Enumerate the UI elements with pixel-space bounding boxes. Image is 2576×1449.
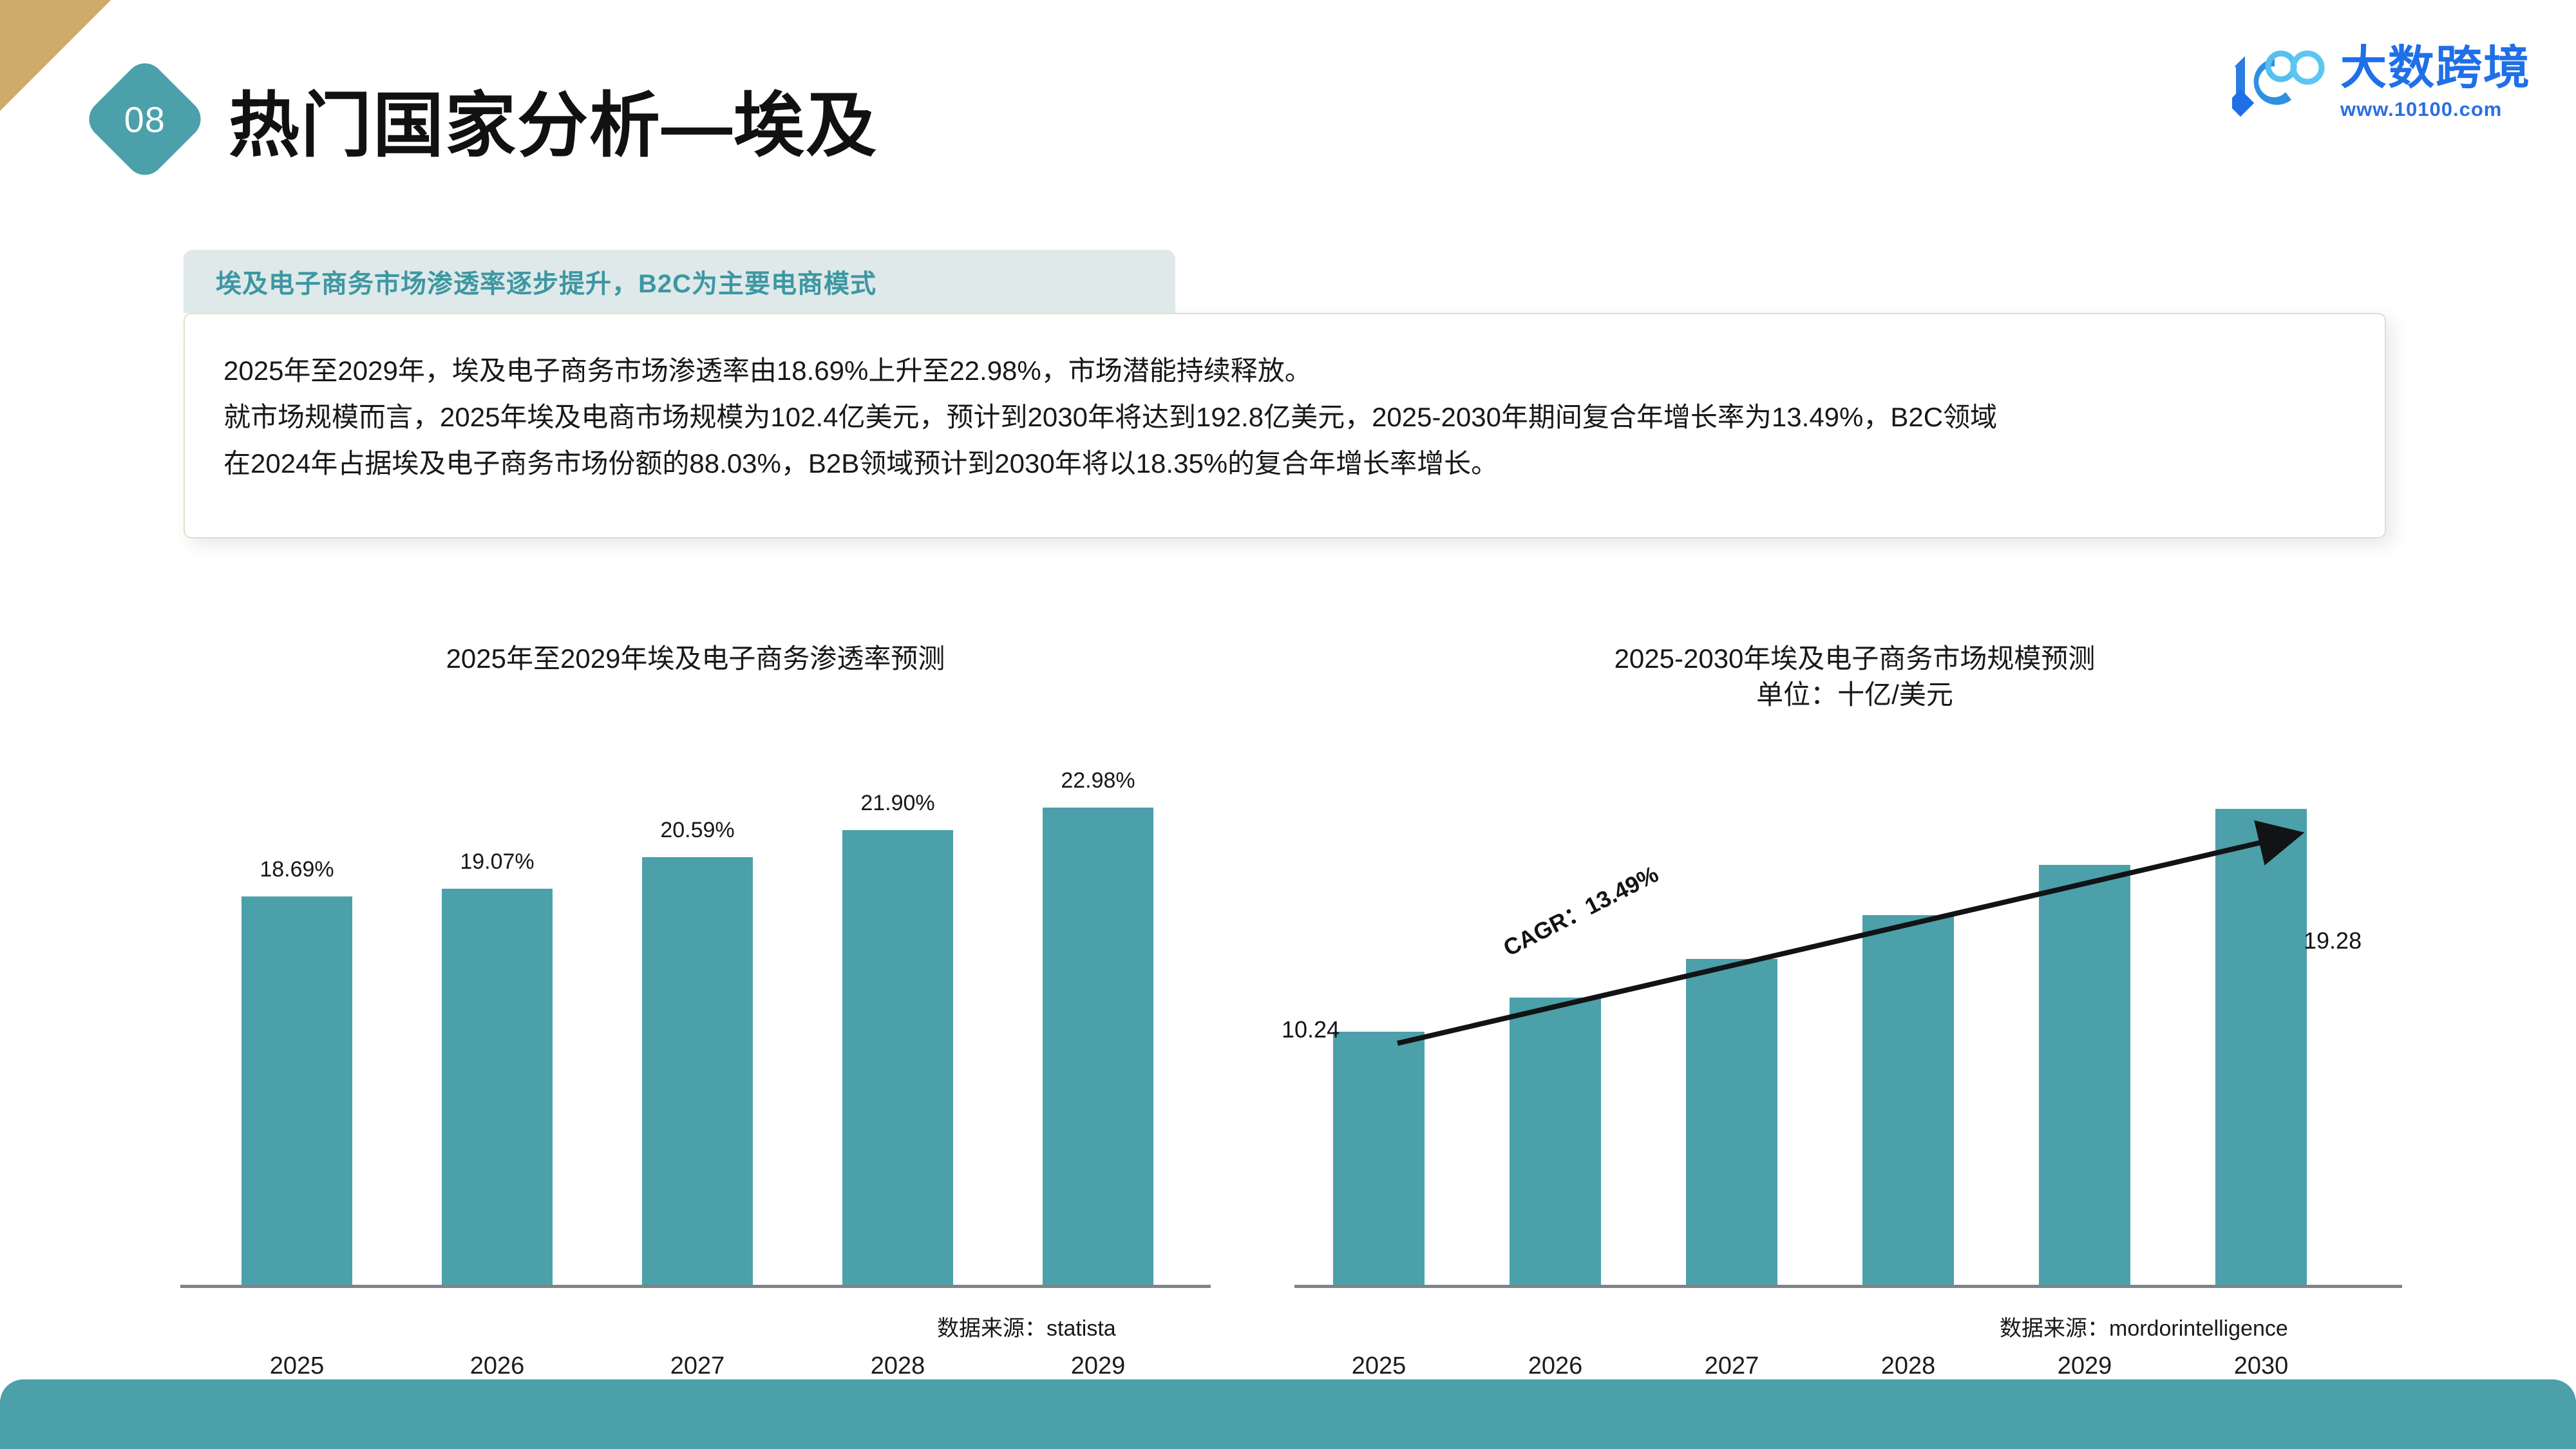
bar-column: 22.98%2029 — [1043, 776, 1153, 1285]
bar — [642, 857, 753, 1285]
x-axis-tick-label: 2029 — [1071, 1352, 1126, 1380]
bar — [1862, 915, 1954, 1285]
page-title: 热门国家分析—埃及 — [229, 68, 878, 171]
logo-mark-icon — [2232, 47, 2329, 118]
bar — [842, 830, 953, 1285]
bar-value-label: 22.98% — [1061, 768, 1135, 793]
x-axis-tick-label: 2030 — [2234, 1352, 2289, 1380]
penetration-bar-chart: 18.69%202519.07%202620.59%202721.90%2028… — [180, 721, 1211, 1288]
bar — [1333, 1032, 1425, 1285]
x-axis-tick-label: 2029 — [2058, 1352, 2112, 1380]
bar-column: 18.69%2025 — [241, 776, 352, 1285]
bar — [2215, 809, 2307, 1285]
summary-line-1: 2025年至2029年，埃及电子商务市场渗透率由18.69%上升至22.98%，… — [223, 348, 2359, 394]
bar — [2039, 865, 2130, 1285]
x-axis-tick-label: 2026 — [470, 1352, 525, 1380]
summary-line-3: 在2024年占据埃及电子商务市场份额的88.03%，B2B领域预计到2030年将… — [223, 440, 2359, 487]
x-axis-tick-label: 2027 — [670, 1352, 725, 1380]
bar — [1686, 959, 1777, 1285]
section-banner: 埃及电子商务市场渗透率逐步提升，B2C为主要电商模式 — [184, 250, 1175, 313]
bar-column: 2028 — [1862, 776, 1954, 1285]
bar — [442, 889, 553, 1285]
chart-2-title-block: 2025-2030年埃及电子商务市场规模预测 单位：十亿/美元 — [1320, 641, 2389, 713]
bar-column: 2026 — [1510, 776, 1601, 1285]
page-header: 08 热门国家分析—埃及 大数跨境 www.10100.com — [0, 0, 2576, 193]
x-axis-tick-label: 2026 — [1528, 1352, 1583, 1380]
chart-2-source: 数据来源：mordorintelligence — [2000, 1311, 2288, 1342]
section-number-badge: 08 — [81, 55, 209, 183]
chart-2-x-axis — [1294, 1285, 2402, 1288]
x-axis-tick-label: 2027 — [1705, 1352, 1759, 1380]
chart-2-subtitle: 单位：十亿/美元 — [1320, 677, 2389, 713]
brand-url: www.10100.com — [2340, 99, 2502, 119]
banner-text: 埃及电子商务市场渗透率逐步提升，B2C为主要电商模式 — [216, 263, 876, 300]
chart-2-bars: 202520262027202820292030 — [1294, 721, 2402, 1285]
summary-line-2: 就市场规模而言，2025年埃及电商市场规模为102.4亿美元，预计到2030年将… — [223, 394, 2359, 440]
chart-2-start-value: 10.24 — [1282, 1016, 1340, 1043]
chart-1-title-block: 2025年至2029年埃及电子商务渗透率预测 — [180, 641, 1211, 677]
chart-1-source: 数据来源：statista — [937, 1311, 1116, 1342]
bar-column: 21.90%2028 — [842, 776, 953, 1285]
bar-column: 2029 — [2039, 776, 2130, 1285]
bar-value-label: 21.90% — [860, 791, 934, 816]
x-axis-tick-label: 2028 — [1881, 1352, 1936, 1380]
chart-1-title: 2025年至2029年埃及电子商务渗透率预测 — [180, 641, 1211, 677]
bar — [1043, 808, 1153, 1285]
chart-1-x-axis — [180, 1285, 1211, 1288]
brand-name: 大数跨境 — [2340, 45, 2531, 91]
bar-value-label: 19.07% — [460, 849, 534, 875]
chart-1-bars: 18.69%202519.07%202620.59%202721.90%2028… — [180, 721, 1211, 1285]
bar — [241, 896, 352, 1285]
bar-value-label: 18.69% — [260, 857, 334, 882]
x-axis-tick-label: 2025 — [1352, 1352, 1406, 1380]
footer-bar — [0, 1379, 2576, 1449]
x-axis-tick-label: 2028 — [871, 1352, 925, 1380]
bar-column: 2027 — [1686, 776, 1777, 1285]
section-number-label: 08 — [124, 98, 166, 140]
summary-card: 2025年至2029年，埃及电子商务市场渗透率由18.69%上升至22.98%，… — [184, 313, 2386, 538]
brand-logo: 大数跨境 www.10100.com — [2232, 45, 2531, 119]
bar — [1510, 998, 1601, 1285]
chart-2-end-value: 19.28 — [2304, 927, 2362, 954]
x-axis-tick-label: 2025 — [270, 1352, 325, 1380]
bar-column: 2025 — [1333, 776, 1425, 1285]
bar-column: 20.59%2027 — [642, 776, 753, 1285]
market-size-bar-chart: 202520262027202820292030 CAGR：13.49% 10.… — [1294, 721, 2402, 1288]
bar-value-label: 20.59% — [660, 818, 734, 843]
bar-column: 2030 — [2215, 776, 2307, 1285]
bar-column: 19.07%2026 — [442, 776, 553, 1285]
chart-2-title: 2025-2030年埃及电子商务市场规模预测 — [1320, 641, 2389, 677]
